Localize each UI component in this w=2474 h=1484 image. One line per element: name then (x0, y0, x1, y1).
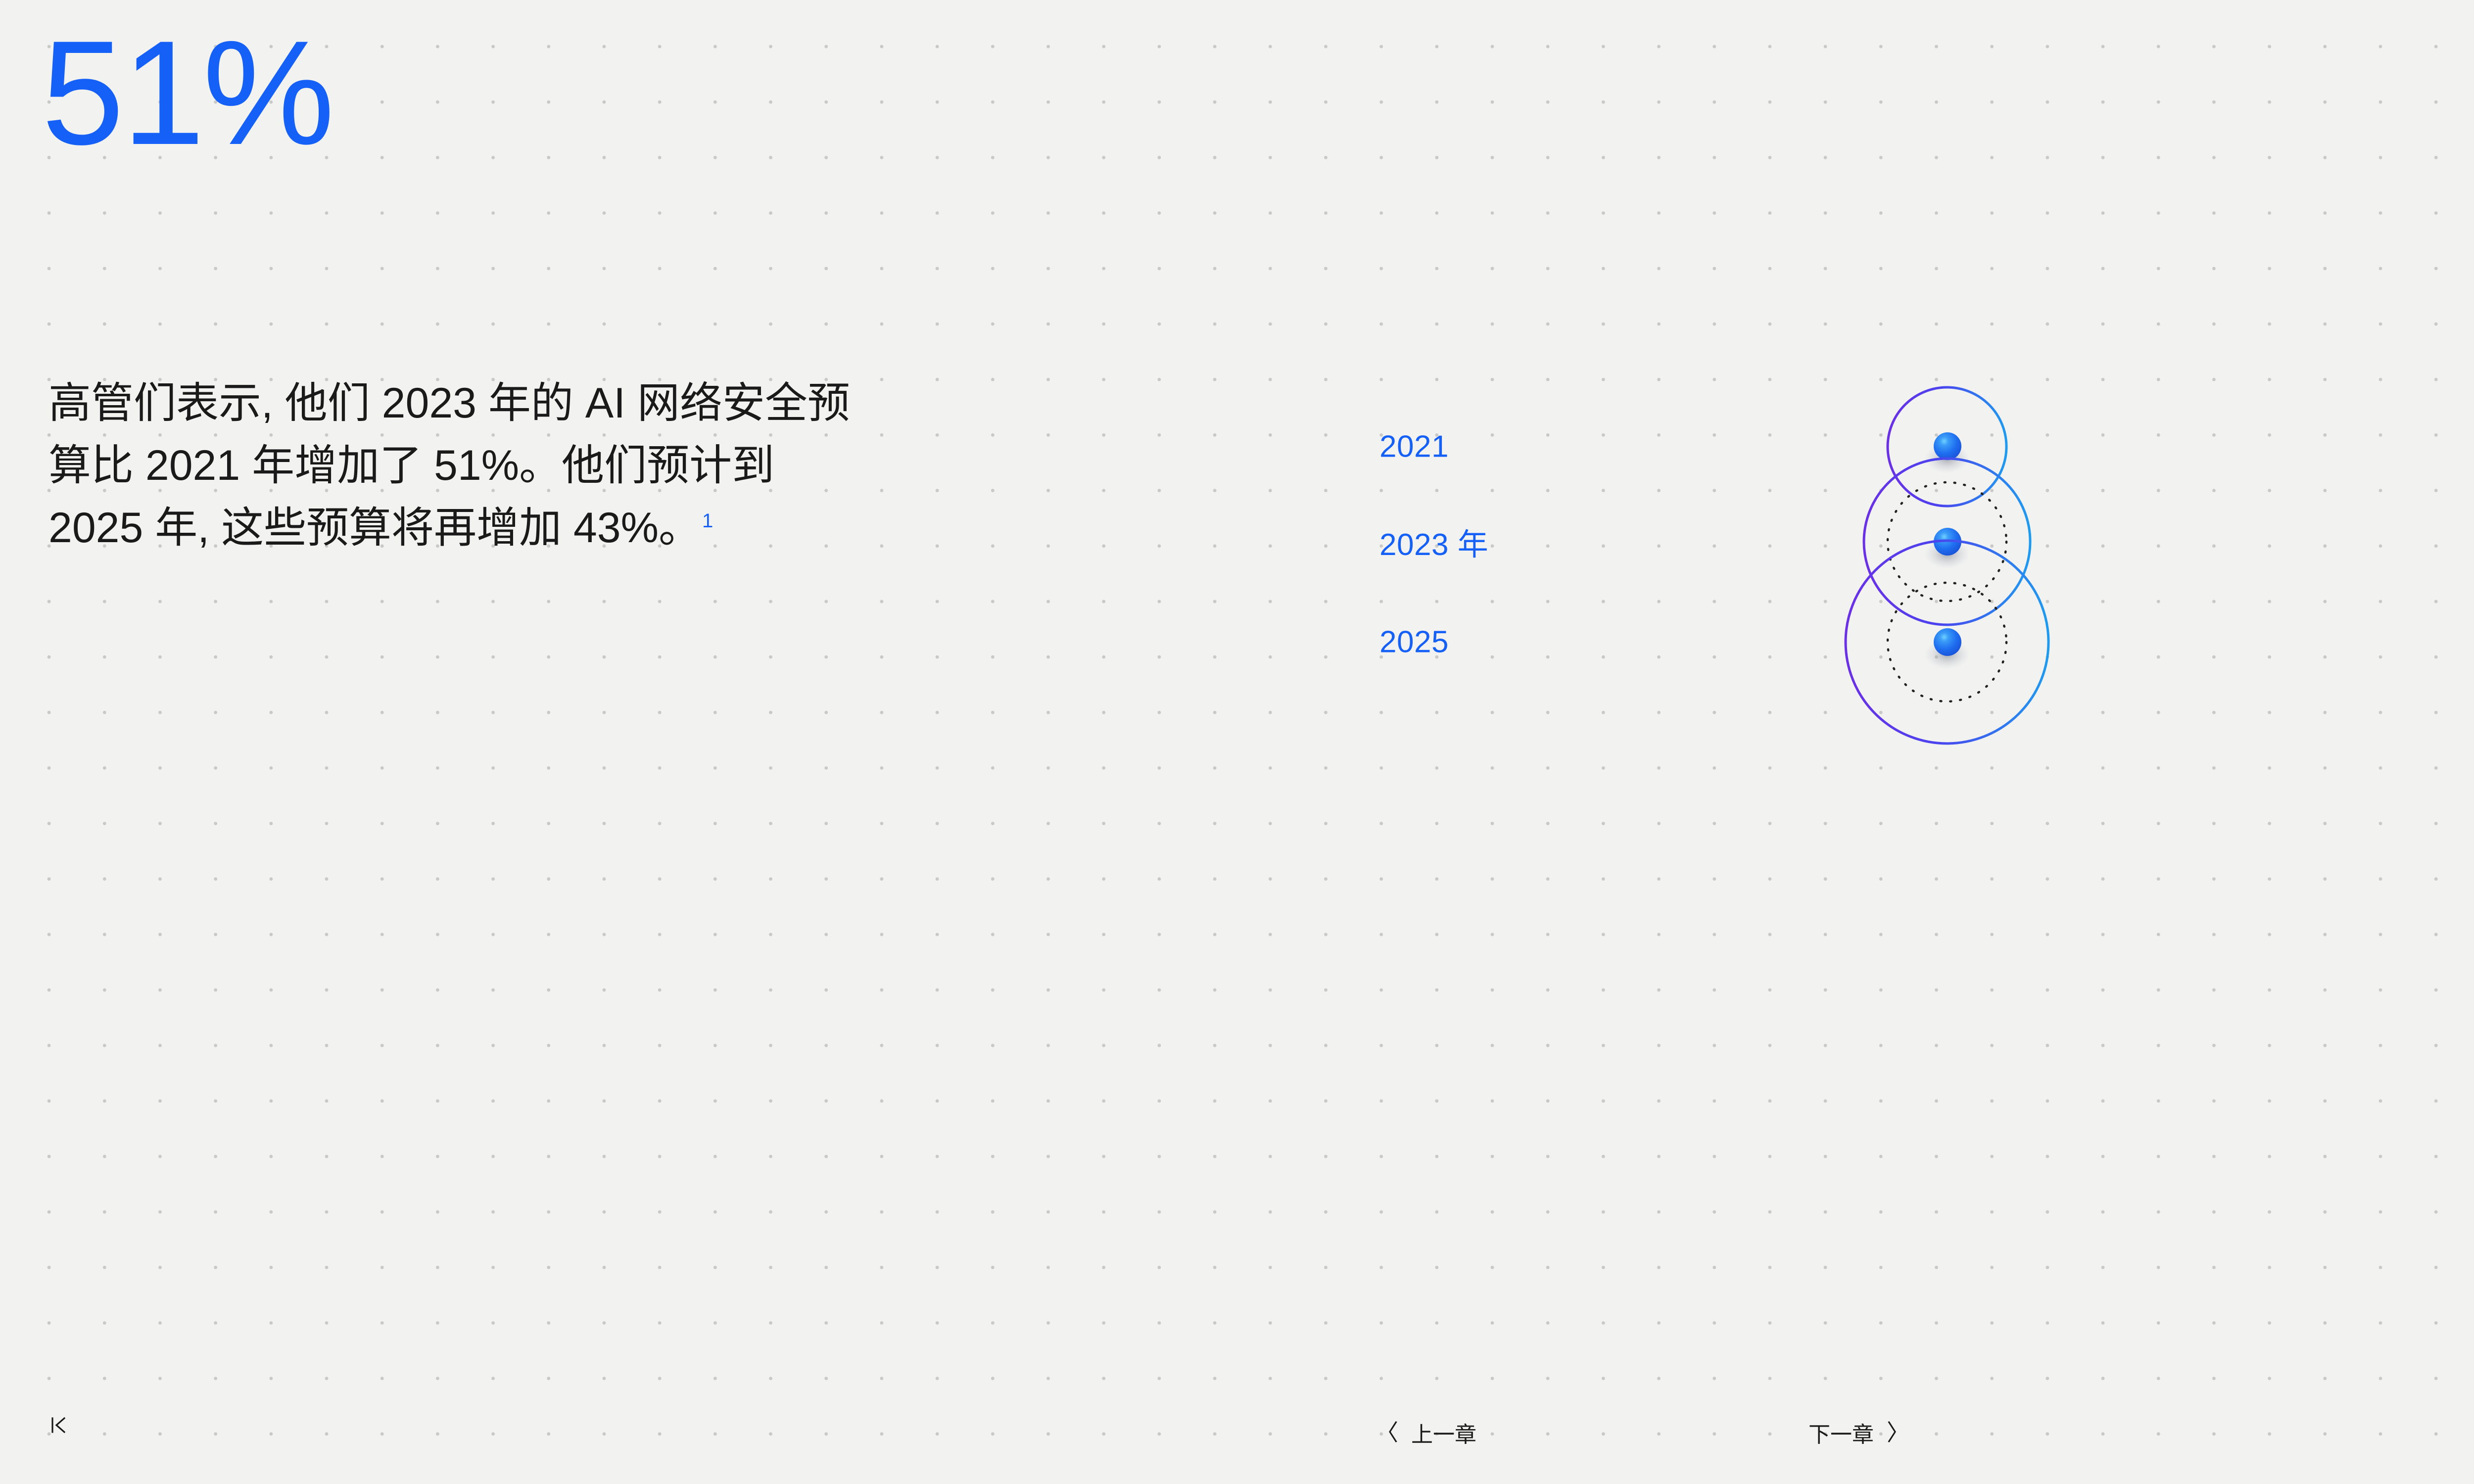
first-page-button[interactable] (49, 1414, 81, 1437)
page-title: 51% (42, 17, 333, 168)
body-paragraph-text: 高管们表示, 他们 2023 年的 AI 网络安全预算比 2021 年增加了 5… (48, 379, 850, 552)
chevron-left-icon: 〈 (1376, 1421, 1398, 1444)
bubble-group-2021 (1504, 387, 2006, 506)
slide-canvas: 51% 高管们表示, 他们 2023 年的 AI 网络安全预算比 2021 年增… (0, 0, 2474, 1484)
bubble-group-2025 (1504, 541, 2048, 743)
bubble-diagram: 2021 2023 年 2025 (1336, 297, 2326, 1336)
body-paragraph: 高管们表示, 他们 2023 年的 AI 网络安全预算比 2021 年增加了 5… (48, 372, 860, 559)
bubble-label-2023: 2023 年 (1380, 519, 1488, 564)
footnote-marker: 1 (702, 510, 713, 532)
skip-to-first-icon (49, 1414, 68, 1437)
marker-sphere-2021 (1934, 432, 1961, 460)
chevron-right-icon: 〉 (1887, 1421, 1909, 1444)
marker-sphere-2025 (1934, 628, 1961, 656)
skip-to-first-icon-svg (49, 1414, 68, 1437)
bubble-label-2025: 2025 (1380, 625, 1449, 660)
bubble-label-2021: 2021 (1380, 429, 1449, 464)
bubble-diagram-svg (1336, 297, 2326, 1336)
footer-nav: 〈 上一章 下一章 〉 8 (0, 1410, 2474, 1484)
previous-chapter-label: 上一章 (1411, 1417, 1476, 1448)
next-chapter-label: 下一章 (1808, 1417, 1874, 1448)
next-chapter-button[interactable]: 下一章 〉 (1808, 1417, 1909, 1448)
previous-chapter-button[interactable]: 〈 上一章 (1376, 1417, 1476, 1448)
